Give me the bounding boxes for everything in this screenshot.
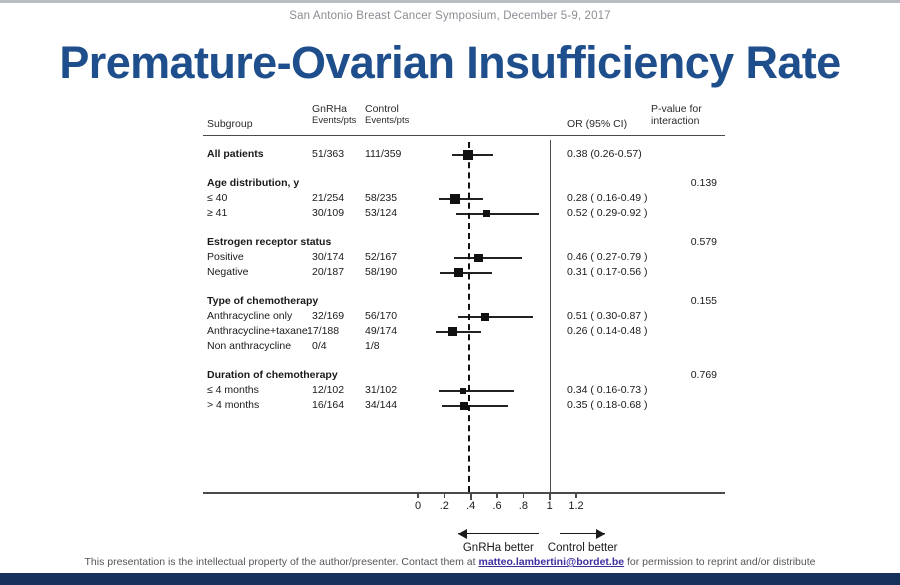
table-row: Anthracycline only32/16956/1700.51 ( 0.3…: [195, 310, 725, 325]
axis-baseline: [203, 492, 725, 494]
row-control-events: 56/170: [365, 310, 417, 322]
axis-tick-label: .6: [492, 500, 501, 512]
column-header-or: OR (95% CI): [567, 118, 627, 130]
row-control-events: 53/124: [365, 207, 417, 219]
column-header-control-line1: Control: [365, 103, 409, 115]
axis-tick-label: .2: [440, 500, 449, 512]
column-header-control: Control Events/pts: [365, 103, 409, 126]
bottom-bar: [0, 573, 900, 585]
table-row: All patients51/363111/3590.38 (0.26-0.57…: [195, 148, 725, 163]
table-row: ≥ 4130/10953/1240.52 ( 0.29-0.92 ): [195, 207, 725, 222]
axis-tick-label: 1: [547, 500, 553, 512]
row-label: ≤ 40: [207, 192, 227, 204]
arrow-head-left-icon: [458, 529, 467, 539]
row-or-ci: 0.38 (0.26-0.57): [567, 148, 642, 160]
presenter-email-link[interactable]: matteo.lambertini@bordet.be: [478, 556, 624, 568]
axis-tick: [523, 492, 524, 498]
axis-tick: [549, 492, 551, 500]
row-gnrha-events: 51/363: [312, 148, 362, 160]
subgroup-header-row: Duration of chemotherapy0.769: [195, 369, 725, 384]
row-label: Positive: [207, 251, 244, 263]
row-gnrha-events: 32/169: [312, 310, 362, 322]
axis-tick: [444, 492, 445, 498]
column-header-pvalue-line1: P-value for: [651, 103, 702, 115]
subgroup-header-row: Estrogen receptor status0.579: [195, 236, 725, 251]
row-control-events: 58/190: [365, 266, 417, 278]
row-label: Duration of chemotherapy: [207, 369, 338, 381]
row-or-ci: 0.51 ( 0.30-0.87 ): [567, 310, 648, 322]
direction-arrow: [560, 528, 605, 540]
arrow-shaft: [458, 533, 540, 534]
row-label: Estrogen receptor status: [207, 236, 331, 248]
row-control-events: 52/167: [365, 251, 417, 263]
row-label: ≥ 41: [207, 207, 227, 219]
table-row: ≤ 4021/25458/2350.28 ( 0.16-0.49 ): [195, 192, 725, 207]
row-or-ci: 0.46 ( 0.27-0.79 ): [567, 251, 648, 263]
column-header-pvalue: P-value for interaction: [651, 103, 702, 127]
row-gnrha-events: 30/174: [312, 251, 362, 263]
row-pvalue-interaction: 0.769: [631, 369, 717, 381]
row-gnrha-events: 16/164: [312, 399, 362, 411]
direction-label: GnRHa better: [463, 542, 534, 554]
column-header-pvalue-line2: interaction: [651, 115, 702, 127]
axis-tick-label: 0: [415, 500, 421, 512]
row-control-events: 111/359: [365, 148, 417, 160]
row-pvalue-interaction: 0.139: [631, 177, 717, 189]
row-label: Non anthracycline: [207, 340, 291, 352]
header-divider: [203, 135, 725, 136]
row-label: Anthracycline+taxane: [207, 325, 308, 337]
column-header-control-line2: Events/pts: [365, 115, 409, 126]
row-label: Type of chemotherapy: [207, 295, 318, 307]
row-gnrha-events: 17/188: [307, 325, 357, 337]
axis-tick-label: .4: [466, 500, 475, 512]
row-pvalue-interaction: 0.579: [631, 236, 717, 248]
row-pvalue-interaction: 0.155: [631, 295, 717, 307]
direction-arrow: [458, 528, 540, 540]
table-row: ≤ 4 months12/10231/1020.34 ( 0.16-0.73 ): [195, 384, 725, 399]
axis-tick: [470, 492, 472, 500]
axis-tick: [417, 492, 418, 498]
table-row: Non anthracycline0/41/8: [195, 340, 725, 355]
row-or-ci: 0.52 ( 0.29-0.92 ): [567, 207, 648, 219]
column-header-or-label: OR (95% CI): [567, 118, 627, 130]
row-label: All patients: [207, 148, 264, 160]
page-title: Premature-Ovarian Insufficiency Rate: [0, 40, 900, 85]
subgroup-header-row: Type of chemotherapy0.155: [195, 295, 725, 310]
row-gnrha-events: 20/187: [312, 266, 362, 278]
row-gnrha-events: 30/109: [312, 207, 362, 219]
row-gnrha-events: 12/102: [312, 384, 362, 396]
column-header-gnrha-line2: Events/pts: [312, 115, 356, 126]
row-label: ≤ 4 months: [207, 384, 259, 396]
table-row: Anthracycline+taxane17/18849/1740.26 ( 0…: [195, 325, 725, 340]
row-or-ci: 0.28 ( 0.16-0.49 ): [567, 192, 648, 204]
axis-tick: [496, 492, 497, 498]
footer-notice: This presentation is the intellectual pr…: [0, 556, 900, 568]
column-header-subgroup-label: Subgroup: [207, 118, 253, 130]
row-label: Negative: [207, 266, 248, 278]
row-control-events: 31/102: [365, 384, 417, 396]
row-or-ci: 0.31 ( 0.17-0.56 ): [567, 266, 648, 278]
axis-tick: [575, 492, 576, 498]
row-control-events: 1/8: [365, 340, 417, 352]
row-label: Anthracycline only: [207, 310, 292, 322]
row-gnrha-events: 21/254: [312, 192, 362, 204]
column-header-subgroup: Subgroup: [207, 118, 253, 130]
row-label: > 4 months: [207, 399, 259, 411]
row-or-ci: 0.34 ( 0.16-0.73 ): [567, 384, 648, 396]
row-or-ci: 0.26 ( 0.14-0.48 ): [567, 325, 648, 337]
column-header-gnrha: GnRHa Events/pts: [312, 103, 356, 126]
subgroup-header-row: Age distribution, y0.139: [195, 177, 725, 192]
row-label: Age distribution, y: [207, 177, 299, 189]
table-row: Negative20/18758/1900.31 ( 0.17-0.56 ): [195, 266, 725, 281]
row-control-events: 58/235: [365, 192, 417, 204]
table-row: Positive30/17452/1670.46 ( 0.27-0.79 ): [195, 251, 725, 266]
row-control-events: 34/144: [365, 399, 417, 411]
row-control-events: 49/174: [365, 325, 417, 337]
column-header-gnrha-line1: GnRHa: [312, 103, 356, 115]
conference-header: San Antonio Breast Cancer Symposium, Dec…: [0, 10, 900, 22]
top-divider: [0, 0, 900, 3]
table-row: > 4 months16/16434/1440.35 ( 0.18-0.68 ): [195, 399, 725, 414]
footer-text-after: for permission to reprint and/or distrib…: [624, 556, 815, 568]
footer-text-before: This presentation is the intellectual pr…: [85, 556, 479, 568]
axis-tick-label: 1.2: [568, 500, 583, 512]
arrow-head-right-icon: [596, 529, 605, 539]
row-gnrha-events: 0/4: [312, 340, 362, 352]
forest-plot: Subgroup GnRHa Events/pts Control Events…: [195, 96, 725, 551]
direction-label: Control better: [548, 542, 618, 554]
axis-tick-label: .8: [519, 500, 528, 512]
row-or-ci: 0.35 ( 0.18-0.68 ): [567, 399, 648, 411]
